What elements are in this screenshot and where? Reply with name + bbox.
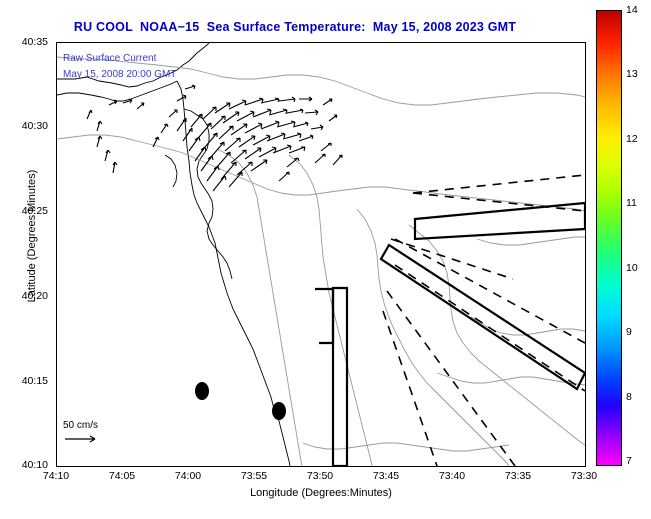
colorbar-tick-8: 8 [626, 391, 632, 403]
x-axis-title: Longitude (Degrees:Minutes) [56, 487, 586, 499]
figure-root: RU COOL NOAA−15 Sea Surface Temperature:… [0, 0, 651, 519]
colorbar-tick-9: 9 [626, 326, 632, 338]
x-tick-6: 73:40 [427, 470, 477, 482]
colorbar-tick-7: 7 [626, 455, 632, 467]
colorbar [596, 10, 622, 466]
x-tick-5: 73:45 [361, 470, 411, 482]
x-tick-8: 73:30 [559, 470, 609, 482]
colorbar-tick-11: 11 [626, 197, 637, 209]
x-tick-1: 74:05 [97, 470, 147, 482]
x-tick-4: 73:50 [295, 470, 345, 482]
x-tick-7: 73:35 [493, 470, 543, 482]
colorbar-tick-10: 10 [626, 262, 638, 274]
colorbar-tick-14: 14 [626, 4, 638, 16]
y-axis-title: Latitude (Degrees:Minutes) [26, 116, 38, 356]
x-tick-0: 74:10 [31, 470, 81, 482]
x-tick-2: 74:00 [163, 470, 213, 482]
x-axis-ticks: 74:10 74:05 74:00 73:55 73:50 73:45 73:4… [0, 0, 651, 519]
colorbar-tick-13: 13 [626, 68, 638, 80]
x-tick-3: 73:55 [229, 470, 279, 482]
colorbar-tick-12: 12 [626, 133, 638, 145]
